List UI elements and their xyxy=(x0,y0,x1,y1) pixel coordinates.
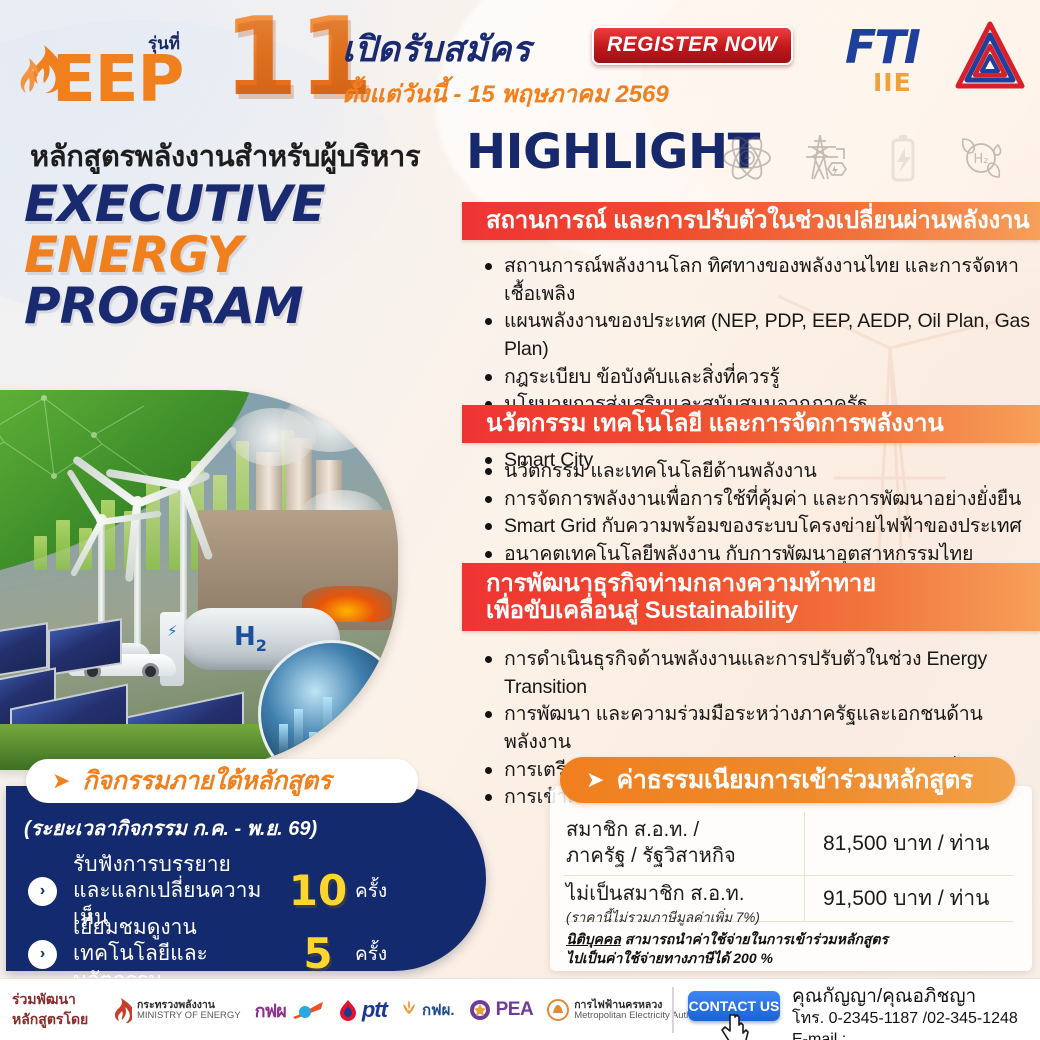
section-bar-2: นวัตกรรม เทคโนโลยี และการจัดการพลังงาน xyxy=(462,405,1040,443)
course-title-line-1: EXECUTIVE xyxy=(24,179,462,230)
highlight-panel: HIGHLIGHT xyxy=(462,128,1040,743)
list-item: การพัฒนา และความร่วมมือระหว่างภาครัฐและเ… xyxy=(480,701,1040,756)
activities-title-pill: ➤ กิจกรรมภายใต้หลักสูตร xyxy=(26,759,418,803)
pea-wordmark: PEA xyxy=(496,999,534,1021)
list-item: การจัดการพลังงานเพื่อการใช้ที่คุ้มค่า แล… xyxy=(480,486,1022,514)
list-item: นวัตกรรม และเทคโนโลยีด้านพลังงาน xyxy=(480,458,1022,486)
list-item: กฎระเบียบ ข้อบังคับและสิ่งที่ควรรู้ xyxy=(480,364,1040,392)
developed-by-line-1: ร่วมพัฒนา xyxy=(12,991,76,1007)
atom-energy-icon xyxy=(720,131,774,185)
register-now-badge[interactable]: REGISTER NOW xyxy=(592,26,793,65)
section-bar-1: สถานการณ์ และการปรับตัวในช่วงเปลี่ยนผ่าน… xyxy=(462,202,1040,240)
fee-price-1: 81,500 บาท / ท่าน xyxy=(804,812,1014,875)
partner-caption: กระทรวงพลังงาน MINISTRY OF ENERGY xyxy=(137,999,241,1022)
hydrogen-h2-leaf-icon: H₂ xyxy=(954,131,1008,185)
ptt-wordmark: ptt xyxy=(362,997,387,1023)
list-item: การดำเนินธุรกิจด้านพลังงานและการปรับตัวใ… xyxy=(480,646,1040,701)
contact-email: E-mail : eepconnection@gmail.com xyxy=(792,1030,1040,1040)
footer: ร่วมพัฒนา หลักสูตรโดย กระทรวงพลังงาน MIN… xyxy=(0,978,1040,1040)
ministry-of-energy-icon xyxy=(110,997,132,1023)
partner-logo-ptt: ptt xyxy=(339,997,387,1023)
partner-logos: กระทรวงพลังงาน MINISTRY OF ENERGY กฟผ pt… xyxy=(110,987,709,1033)
arrow-right-icon: ➤ xyxy=(586,769,604,791)
fti-logo: FTI IIE xyxy=(845,18,1025,104)
edition-label: รุ่นที่ xyxy=(148,30,180,57)
course-thai-subtitle: หลักสูตรพลังงานสำหรับผู้บริหาร xyxy=(30,133,462,179)
mea-seal-icon xyxy=(547,999,569,1021)
egat-swoosh-icon xyxy=(291,1000,325,1020)
table-row: สมาชิก ส.อ.ท. / ภาครัฐ / รัฐวิสาหกิจ 81,… xyxy=(564,812,1014,876)
activity-unit-1: ครั้ง xyxy=(355,876,387,906)
footer-divider xyxy=(672,987,674,1033)
registration-date-range: ตั้งแต่วันนี้ - 15 พฤษภาคม 2569 xyxy=(342,74,669,113)
partner-logo-pea: PEA xyxy=(469,999,534,1021)
chevron-right-icon: › xyxy=(28,877,57,906)
pea-seal-icon xyxy=(469,999,491,1021)
arrow-right-icon: ➤ xyxy=(52,770,70,792)
ptt-flame-icon xyxy=(339,999,357,1021)
activities-period: (ระยะเวลากิจกรรม ก.ค. - พ.ย. 69) xyxy=(24,812,317,844)
power-transmission-tower-icon xyxy=(798,131,852,185)
list-item: สถานการณ์พลังงานโลก ทิศทางของพลังงานไทย … xyxy=(480,253,1040,308)
section-bar-3: การพัฒนาธุรกิจท่ามกลางความท้าทาย เพื่อขั… xyxy=(462,563,1040,631)
list-item: แผนพลังงานของประเทศ (NEP, PDP, EEP, AEDP… xyxy=(480,308,1040,363)
header: EEP รุ่นที่ 11 เปิดรับสมัคร REGISTER NOW… xyxy=(0,0,1040,120)
developed-by-label: ร่วมพัฒนา หลักสูตรโดย xyxy=(12,989,88,1030)
partner-logo-ministry-of-energy: กระทรวงพลังงาน MINISTRY OF ENERGY xyxy=(110,997,241,1023)
egat-lotus-wordmark: กฟผ. xyxy=(422,998,455,1022)
course-title-line-3: PROGRAM xyxy=(24,281,462,332)
hand-pointer-icon xyxy=(716,1013,756,1040)
section-bar-1-text: สถานการณ์ และการปรับตัวในช่วงเปลี่ยนผ่าน… xyxy=(462,202,1040,240)
fee-note-vat: (ราคานี้ไม่รวมภาษีมูลค่าเพิ่ม 7%) xyxy=(566,906,1006,928)
fee-name-1-text: สมาชิก ส.อ.ท. / ภาครัฐ / รัฐวิสาหกิจ xyxy=(566,819,736,867)
egat-wordmark: กฟผ xyxy=(255,996,286,1025)
fee-note-tax-line2: ไปเป็นค่าใช้จ่ายทางภาษีได้ 200 % xyxy=(566,950,773,966)
energy-photo-collage: H2 ⚡ xyxy=(0,390,398,770)
list-item: Smart Grid กับความพร้อมของระบบโครงข่ายไฟ… xyxy=(480,513,1022,541)
partner-logo-egat-lotus: กฟผ. xyxy=(401,998,455,1022)
developed-by-line-2: หลักสูตรโดย xyxy=(12,1011,88,1027)
partner-logo-mea: การไฟฟ้านครหลวง Metropolitan Electricity… xyxy=(547,999,709,1022)
fee-note-tax: นิติบุคคล สามารถนำค่าใช้จ่ายในการเข้าร่ว… xyxy=(566,930,1006,968)
fees-note: (ราคานี้ไม่รวมภาษีมูลค่าเพิ่ม 7%) นิติบุ… xyxy=(566,906,1006,968)
fti-subtext: IIE xyxy=(873,68,912,97)
egat-lotus-icon xyxy=(401,999,417,1021)
activity-count-2: 5 xyxy=(287,933,349,975)
course-title-line-2: ENERGY xyxy=(24,230,462,281)
highlight-icon-row: H₂ xyxy=(720,131,1008,185)
partner-logo-egat: กฟผ xyxy=(255,996,325,1025)
fti-wordmark: FTI xyxy=(845,20,919,74)
fees-title-pill: ➤ ค่าธรรมเนียมการเข้าร่วมหลักสูตร xyxy=(560,757,1015,803)
eep-wordmark: EEP xyxy=(52,48,183,112)
activities-title: กิจกรรมภายใต้หลักสูตร xyxy=(82,761,331,801)
fee-note-tax-keyword: นิติบุคคล xyxy=(566,931,621,947)
activity-count-1: 10 xyxy=(287,870,349,912)
activity-unit-2: ครั้ง xyxy=(355,939,387,969)
fees-title: ค่าธรรมเนียมการเข้าร่วมหลักสูตร xyxy=(616,760,973,800)
section-bar-3-text-line1: การพัฒนาธุรกิจท่ามกลางความท้าทาย xyxy=(462,571,1040,598)
fti-triangle-icon xyxy=(953,18,1027,98)
contact-phone: โทร. 0-2345-1187 /02-345-1248 xyxy=(792,1009,1040,1029)
fee-note-tax-rest: สามารถนำค่าใช้จ่ายในการเข้าร่วมหลักสูตร xyxy=(621,931,888,947)
section-bar-2-text: นวัตกรรม เทคโนโลยี และการจัดการพลังงาน xyxy=(462,405,1040,443)
course-title-block: หลักสูตรพลังงานสำหรับผู้บริหาร EXECUTIVE… xyxy=(22,133,462,332)
fee-name-1: สมาชิก ส.อ.ท. / ภาครัฐ / รัฐวิสาหกิจ xyxy=(564,812,804,875)
highlight-title: HIGHLIGHT xyxy=(466,128,760,176)
battery-icon xyxy=(876,131,930,185)
svg-text:H₂: H₂ xyxy=(974,152,989,167)
open-registration-text: เปิดรับสมัคร xyxy=(342,22,531,77)
section-bullets-2: นวัตกรรม และเทคโนโลยีด้านพลังงาน การจัดก… xyxy=(480,458,1022,569)
contact-person: คุณกัญญา/คุณอภิชญา xyxy=(792,985,1040,1009)
poster-root: EEP รุ่นที่ 11 เปิดรับสมัคร REGISTER NOW… xyxy=(0,0,1040,1040)
section-bar-3-text-line2: เพื่อขับเคลื่อนสู่ Sustainability xyxy=(462,598,1040,625)
partner-en-0: MINISTRY OF ENERGY xyxy=(137,1010,241,1021)
contact-info: คุณกัญญา/คุณอภิชญา โทร. 0-2345-1187 /02-… xyxy=(792,985,1040,1040)
chevron-right-icon: › xyxy=(28,940,57,969)
